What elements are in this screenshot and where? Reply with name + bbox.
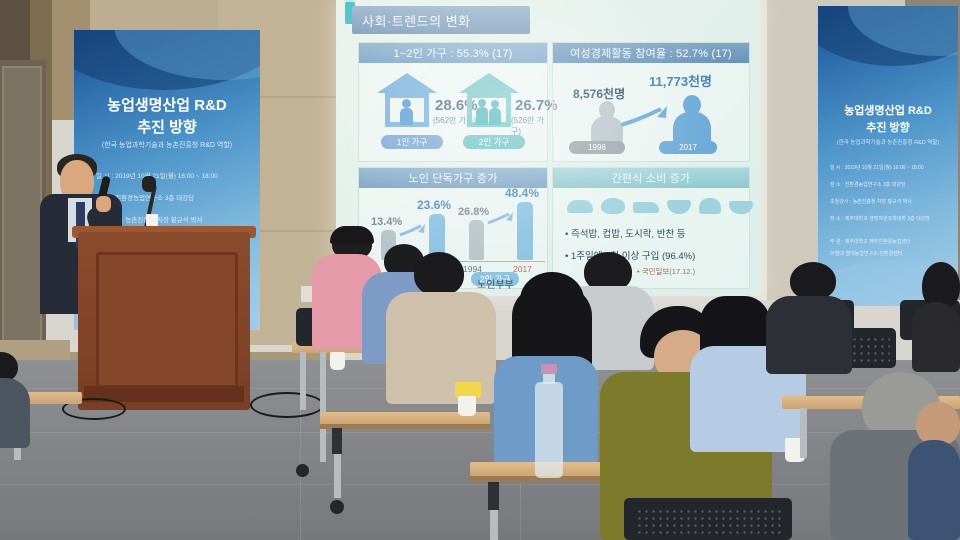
banner-right-line-4: 장 소 : 제주대학교 생명자원과학대학 3층 대강당	[830, 215, 930, 222]
bar-label-2017-b: 48.4%	[505, 186, 539, 200]
floor-cable-1	[250, 392, 324, 418]
desk-leg	[800, 408, 807, 458]
growth-arrow-icon	[619, 105, 671, 131]
elderly-group-sub: 노인부부	[477, 276, 514, 291]
burger-icon	[567, 200, 593, 213]
desk-caster	[296, 464, 309, 477]
water-bottle-cap	[541, 364, 557, 374]
attendee-navy-right-torso	[908, 440, 960, 540]
bar-arrow-b-icon	[487, 212, 515, 226]
women-year-1998: 1998	[569, 141, 625, 154]
chart-axis-line	[459, 261, 545, 262]
banner-right-line-3: 초청강사 : 농촌진흥청 차장 황규석 박사	[830, 198, 912, 205]
panel-women-header: 여성경제활동 참여율 : 52.7% (17)	[553, 43, 749, 63]
banner-right-line-2: 장 소 : 친환경농업연구소 3층 대강당	[830, 181, 906, 188]
households-2-label: 2인 가구	[463, 135, 525, 149]
paper-cup-row2	[330, 352, 345, 370]
banner-right-line-6: 아열대·열대농업연구소·친환경센터	[830, 250, 902, 257]
desk-leg	[320, 352, 326, 462]
desk-row2-edge	[320, 424, 490, 429]
banner-left-subtitle: (한국 농업과학기술과 농촌진흥청 R&D 역할)	[74, 140, 260, 150]
banner-left-line-1: 일 시 : 2019년 10월 21일(월) 16:00 ~ 18:00	[96, 170, 218, 180]
food-bullet-2: • 1주일에 1회 이상 구입 (96.4%)	[565, 248, 695, 262]
banner-right-line-1: 일 시 : 2019년 10월 21일(월) 16:00 ~ 18:00	[830, 164, 924, 171]
bar-1994-b	[469, 220, 484, 260]
banner-right-line-5: 주 관 : 제주대학교 제주친환경농업센터	[830, 238, 911, 245]
baseball-cap-icon	[330, 226, 374, 244]
attendee-beige-head	[414, 252, 464, 296]
food-source: • 국민일보(17.12.)	[637, 266, 695, 277]
banner-left-title-2: 추진 방향	[74, 116, 260, 137]
rice-bowl-icon	[601, 198, 625, 214]
attendee-right-mid-torso	[912, 302, 960, 372]
water-bottle	[535, 382, 563, 478]
banner-right-title-1: 농업생명산업 R&D	[818, 102, 958, 118]
households-2-count: (526만 가구)	[511, 115, 547, 137]
sushi-icon	[633, 202, 659, 213]
paper-cup-row2-b	[458, 396, 476, 416]
side-door-frame	[2, 66, 42, 356]
women-year-2017: 2017	[659, 141, 717, 154]
attendee-dark-right-torso	[766, 296, 852, 374]
bar-label-1994-a: 13.4%	[371, 216, 402, 228]
banner-right-title-2: 추진 방향	[818, 119, 958, 135]
chair-perforation	[636, 508, 782, 534]
speaker-hand	[96, 196, 111, 212]
food-bullet-1: • 즉석밥, 컵밥, 도시락, 반찬 등	[565, 226, 686, 240]
panel-women-economic: 여성경제활동 참여율 : 52.7% (17) 8,576천명 1998 11,…	[552, 42, 750, 162]
banner-right-subtitle: (한국 농업과학기술과 농촌진흥청 R&D 역할)	[818, 138, 958, 146]
bar-label-2017-a: 23.6%	[417, 198, 451, 212]
banner-right: 농업생명산업 R&D 추진 방향 (한국 농업과학기술과 농촌진흥청 R&D 역…	[818, 6, 958, 306]
panel-food-header: 간편식 소비 증가	[553, 168, 749, 188]
desk-leg	[300, 352, 306, 410]
bar-2017-b	[517, 202, 533, 260]
attendee-far-left-torso	[0, 378, 30, 448]
desk-leg-dark	[332, 428, 342, 454]
podium-front-panel	[96, 252, 238, 388]
women-2017-value: 11,773천명	[649, 71, 712, 90]
conference-room-photo: 사회·트렌드의 변화 1~2인 가구 : 55.3% (17) 28.6% (5…	[0, 0, 960, 540]
banner-left-title-1: 농업생명산업 R&D	[74, 94, 260, 115]
cupcake-icon	[699, 198, 721, 214]
panel-households: 1~2인 가구 : 55.3% (17) 28.6% (562만 가구) 1인 …	[358, 42, 548, 162]
slide-title: 사회·트렌드의 변화	[362, 11, 532, 30]
bar-arrow-a-icon	[399, 224, 427, 238]
desk-caster	[330, 500, 344, 514]
panel-households-header: 1~2인 가구 : 55.3% (17)	[359, 43, 547, 63]
desk-leg-dark	[488, 482, 499, 510]
microphone-icon	[142, 176, 156, 192]
attendee-dark-right-head	[790, 262, 836, 300]
panel-elderly-header: 노인 단독가구 증가	[359, 168, 547, 188]
wall-left-top-panel	[0, 0, 30, 60]
bar-label-1994-b: 26.8%	[458, 206, 489, 218]
women-1998-value: 8,576천명	[573, 85, 625, 102]
soup-bowl-icon	[729, 201, 753, 214]
salad-bowl-icon	[667, 200, 691, 214]
panel-convenience-food: 간편식 소비 증가 • 즉석밥, 컵밥, 도시락, 반찬 등 • 1주일에 1회…	[552, 167, 750, 289]
households-1-label: 1인 가구	[381, 135, 443, 149]
